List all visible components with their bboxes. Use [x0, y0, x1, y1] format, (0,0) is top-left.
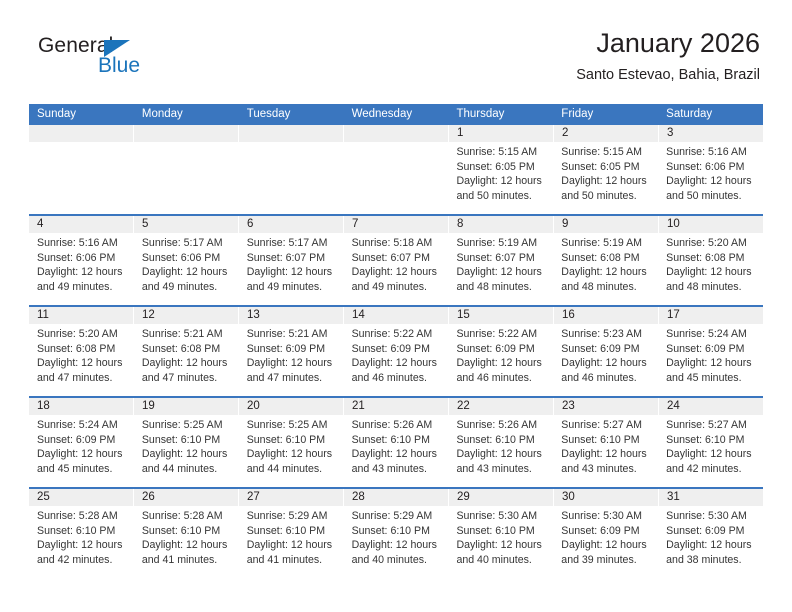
day-cell-empty — [239, 142, 344, 214]
day-cell-17[interactable]: Sunrise: 5:24 AMSunset: 6:09 PMDaylight:… — [658, 324, 763, 396]
day-info-line: and 46 minutes. — [352, 371, 443, 386]
day-info-line: Sunset: 6:09 PM — [666, 342, 757, 357]
day-info-line: Daylight: 12 hours — [37, 356, 128, 371]
day-info-line: Sunset: 6:09 PM — [247, 342, 338, 357]
day-info-line: and 47 minutes. — [247, 371, 338, 386]
day-cell-29[interactable]: Sunrise: 5:30 AMSunset: 6:10 PMDaylight:… — [448, 506, 553, 578]
day-cell-23[interactable]: Sunrise: 5:27 AMSunset: 6:10 PMDaylight:… — [553, 415, 658, 487]
day-cell-30[interactable]: Sunrise: 5:30 AMSunset: 6:09 PMDaylight:… — [553, 506, 658, 578]
day-info-line: and 46 minutes. — [456, 371, 547, 386]
day-info-line: Daylight: 12 hours — [142, 447, 233, 462]
calendar-week-row: 123Sunrise: 5:15 AMSunset: 6:05 PMDaylig… — [29, 125, 763, 214]
day-cell-15[interactable]: Sunrise: 5:22 AMSunset: 6:09 PMDaylight:… — [448, 324, 553, 396]
day-info-line: and 38 minutes. — [666, 553, 757, 568]
day-info-line: Daylight: 12 hours — [666, 174, 757, 189]
day-info-line: Sunset: 6:10 PM — [456, 433, 547, 448]
day-info-line: and 46 minutes. — [561, 371, 652, 386]
day-info-line: Daylight: 12 hours — [247, 538, 338, 553]
day-info-line: Daylight: 12 hours — [352, 265, 443, 280]
day-info-line: and 43 minutes. — [561, 462, 652, 477]
day-cell-empty — [134, 142, 239, 214]
day-info-line: Sunrise: 5:26 AM — [352, 418, 443, 433]
calendar-week-row: 25262728293031Sunrise: 5:28 AMSunset: 6:… — [29, 487, 763, 578]
day-number-empty — [344, 125, 449, 142]
day-detail-row: Sunrise: 5:20 AMSunset: 6:08 PMDaylight:… — [29, 324, 763, 396]
day-info-line: Daylight: 12 hours — [142, 356, 233, 371]
day-info-line: Sunrise: 5:16 AM — [666, 145, 757, 160]
day-number-26[interactable]: 26 — [134, 489, 239, 506]
day-info-line: Sunrise: 5:17 AM — [142, 236, 233, 251]
weekday-header-monday: Monday — [134, 104, 239, 125]
day-info-line: Daylight: 12 hours — [456, 356, 547, 371]
day-number-16[interactable]: 16 — [554, 307, 659, 324]
day-info-line: Sunrise: 5:30 AM — [666, 509, 757, 524]
day-info-line: Sunrise: 5:24 AM — [37, 418, 128, 433]
day-info-line: Sunset: 6:07 PM — [247, 251, 338, 266]
day-number-18[interactable]: 18 — [29, 398, 134, 415]
day-info-line: Daylight: 12 hours — [247, 447, 338, 462]
day-detail-row: Sunrise: 5:16 AMSunset: 6:06 PMDaylight:… — [29, 233, 763, 305]
day-cell-5[interactable]: Sunrise: 5:17 AMSunset: 6:06 PMDaylight:… — [134, 233, 239, 305]
day-info-line: Sunrise: 5:19 AM — [456, 236, 547, 251]
calendar-week-row: 45678910Sunrise: 5:16 AMSunset: 6:06 PMD… — [29, 214, 763, 305]
weekday-header-friday: Friday — [553, 104, 658, 125]
day-info-line: Sunrise: 5:27 AM — [666, 418, 757, 433]
day-info-line: Sunrise: 5:27 AM — [561, 418, 652, 433]
calendar-page: General Blue January 2026 Santo Estevao,… — [0, 0, 792, 612]
day-info-line: Daylight: 12 hours — [561, 447, 652, 462]
day-info-line: Sunrise: 5:30 AM — [456, 509, 547, 524]
day-number-12[interactable]: 12 — [134, 307, 239, 324]
day-info-line: and 41 minutes. — [142, 553, 233, 568]
day-info-line: Daylight: 12 hours — [666, 447, 757, 462]
weekday-header-row: SundayMondayTuesdayWednesdayThursdayFrid… — [29, 104, 763, 125]
day-info-line: and 42 minutes. — [37, 553, 128, 568]
day-info-line: Daylight: 12 hours — [142, 538, 233, 553]
day-info-line: Daylight: 12 hours — [37, 265, 128, 280]
day-info-line: Sunset: 6:10 PM — [456, 524, 547, 539]
day-info-line: Sunrise: 5:17 AM — [247, 236, 338, 251]
calendar-grid: SundayMondayTuesdayWednesdayThursdayFrid… — [29, 104, 763, 578]
title-block: January 2026 Santo Estevao, Bahia, Brazi… — [576, 26, 760, 86]
day-detail-row: Sunrise: 5:24 AMSunset: 6:09 PMDaylight:… — [29, 415, 763, 487]
calendar-week-row: 11121314151617Sunrise: 5:20 AMSunset: 6:… — [29, 305, 763, 396]
day-info-line: Daylight: 12 hours — [456, 447, 547, 462]
day-cell-14[interactable]: Sunrise: 5:22 AMSunset: 6:09 PMDaylight:… — [344, 324, 449, 396]
day-info-line: and 42 minutes. — [666, 462, 757, 477]
day-info-line: Daylight: 12 hours — [352, 447, 443, 462]
day-info-line: and 50 minutes. — [456, 189, 547, 204]
day-info-line: Sunset: 6:05 PM — [456, 160, 547, 175]
day-info-line: and 48 minutes. — [456, 280, 547, 295]
day-info-line: and 48 minutes. — [666, 280, 757, 295]
day-info-line: Sunset: 6:09 PM — [352, 342, 443, 357]
day-info-line: and 44 minutes. — [247, 462, 338, 477]
day-info-line: Sunset: 6:10 PM — [142, 433, 233, 448]
day-number-2[interactable]: 2 — [554, 125, 659, 142]
day-info-line: and 49 minutes. — [352, 280, 443, 295]
day-number-empty — [29, 125, 134, 142]
day-cell-4[interactable]: Sunrise: 5:16 AMSunset: 6:06 PMDaylight:… — [29, 233, 134, 305]
day-info-line: Sunrise: 5:20 AM — [37, 327, 128, 342]
day-detail-row: Sunrise: 5:15 AMSunset: 6:05 PMDaylight:… — [29, 142, 763, 214]
weekday-header-thursday: Thursday — [448, 104, 553, 125]
weekday-header-wednesday: Wednesday — [344, 104, 449, 125]
day-info-line: Sunrise: 5:15 AM — [561, 145, 652, 160]
day-cell-21[interactable]: Sunrise: 5:26 AMSunset: 6:10 PMDaylight:… — [344, 415, 449, 487]
day-number-9[interactable]: 9 — [554, 216, 659, 233]
day-number-15[interactable]: 15 — [449, 307, 554, 324]
day-cell-27[interactable]: Sunrise: 5:29 AMSunset: 6:10 PMDaylight:… — [239, 506, 344, 578]
day-number-5[interactable]: 5 — [134, 216, 239, 233]
page-subtitle: Santo Estevao, Bahia, Brazil — [576, 64, 760, 86]
day-number-23[interactable]: 23 — [554, 398, 659, 415]
day-info-line: Sunrise: 5:19 AM — [561, 236, 652, 251]
day-number-strip: 11121314151617 — [29, 307, 763, 324]
day-info-line: Sunset: 6:10 PM — [352, 433, 443, 448]
day-cell-9[interactable]: Sunrise: 5:19 AMSunset: 6:08 PMDaylight:… — [553, 233, 658, 305]
day-number-10[interactable]: 10 — [659, 216, 763, 233]
day-info-line: and 48 minutes. — [561, 280, 652, 295]
day-info-line: Sunrise: 5:25 AM — [247, 418, 338, 433]
day-number-19[interactable]: 19 — [134, 398, 239, 415]
day-info-line: and 43 minutes. — [456, 462, 547, 477]
day-info-line: and 45 minutes. — [37, 462, 128, 477]
day-info-line: Daylight: 12 hours — [352, 538, 443, 553]
day-number-30[interactable]: 30 — [554, 489, 659, 506]
day-info-line: and 49 minutes. — [37, 280, 128, 295]
day-number-strip: 25262728293031 — [29, 489, 763, 506]
day-info-line: Sunrise: 5:25 AM — [142, 418, 233, 433]
day-cell-22[interactable]: Sunrise: 5:26 AMSunset: 6:10 PMDaylight:… — [448, 415, 553, 487]
day-info-line: Sunset: 6:09 PM — [666, 524, 757, 539]
day-cell-6[interactable]: Sunrise: 5:17 AMSunset: 6:07 PMDaylight:… — [239, 233, 344, 305]
day-info-line: Sunset: 6:10 PM — [352, 524, 443, 539]
day-info-line: Sunset: 6:07 PM — [352, 251, 443, 266]
day-info-line: and 44 minutes. — [142, 462, 233, 477]
day-cell-empty — [344, 142, 449, 214]
day-number-21[interactable]: 21 — [344, 398, 449, 415]
calendar-weeks: 123Sunrise: 5:15 AMSunset: 6:05 PMDaylig… — [29, 125, 763, 578]
calendar-week-row: 18192021222324Sunrise: 5:24 AMSunset: 6:… — [29, 396, 763, 487]
day-info-line: Sunset: 6:09 PM — [37, 433, 128, 448]
day-info-line: Sunset: 6:09 PM — [561, 524, 652, 539]
day-info-line: and 40 minutes. — [456, 553, 547, 568]
day-info-line: Sunrise: 5:18 AM — [352, 236, 443, 251]
logo-text-blue: Blue — [98, 54, 140, 78]
day-info-line: Sunset: 6:10 PM — [247, 433, 338, 448]
day-info-line: Sunset: 6:06 PM — [142, 251, 233, 266]
day-info-line: Sunset: 6:09 PM — [456, 342, 547, 357]
day-info-line: Sunset: 6:10 PM — [37, 524, 128, 539]
day-info-line: Sunset: 6:10 PM — [666, 433, 757, 448]
day-info-line: Sunrise: 5:24 AM — [666, 327, 757, 342]
day-number-empty — [239, 125, 344, 142]
day-number-27[interactable]: 27 — [239, 489, 344, 506]
day-cell-28[interactable]: Sunrise: 5:29 AMSunset: 6:10 PMDaylight:… — [344, 506, 449, 578]
day-info-line: Sunrise: 5:28 AM — [37, 509, 128, 524]
day-info-line: Sunrise: 5:28 AM — [142, 509, 233, 524]
day-info-line: and 40 minutes. — [352, 553, 443, 568]
day-info-line: Daylight: 12 hours — [561, 174, 652, 189]
day-info-line: Daylight: 12 hours — [247, 265, 338, 280]
day-info-line: Sunset: 6:10 PM — [247, 524, 338, 539]
day-info-line: Sunset: 6:10 PM — [142, 524, 233, 539]
day-info-line: Daylight: 12 hours — [247, 356, 338, 371]
day-number-20[interactable]: 20 — [239, 398, 344, 415]
day-detail-row: Sunrise: 5:28 AMSunset: 6:10 PMDaylight:… — [29, 506, 763, 578]
day-cell-1[interactable]: Sunrise: 5:15 AMSunset: 6:05 PMDaylight:… — [448, 142, 553, 214]
day-number-1[interactable]: 1 — [449, 125, 554, 142]
day-info-line: Daylight: 12 hours — [561, 265, 652, 280]
day-cell-12[interactable]: Sunrise: 5:21 AMSunset: 6:08 PMDaylight:… — [134, 324, 239, 396]
general-blue-logo[interactable]: General Blue — [38, 34, 198, 90]
day-info-line: Sunset: 6:07 PM — [456, 251, 547, 266]
day-number-11[interactable]: 11 — [29, 307, 134, 324]
day-info-line: and 45 minutes. — [666, 371, 757, 386]
day-number-4[interactable]: 4 — [29, 216, 134, 233]
day-info-line: Daylight: 12 hours — [37, 447, 128, 462]
day-number-strip: 123 — [29, 125, 763, 142]
day-info-line: Sunset: 6:06 PM — [37, 251, 128, 266]
day-info-line: Daylight: 12 hours — [456, 538, 547, 553]
day-info-line: and 50 minutes. — [666, 189, 757, 204]
day-info-line: and 47 minutes. — [142, 371, 233, 386]
day-info-line: Sunset: 6:08 PM — [561, 251, 652, 266]
day-info-line: and 49 minutes. — [247, 280, 338, 295]
day-number-24[interactable]: 24 — [659, 398, 763, 415]
day-info-line: Sunrise: 5:22 AM — [352, 327, 443, 342]
day-info-line: Sunrise: 5:21 AM — [247, 327, 338, 342]
day-cell-19[interactable]: Sunrise: 5:25 AMSunset: 6:10 PMDaylight:… — [134, 415, 239, 487]
day-number-7[interactable]: 7 — [344, 216, 449, 233]
day-cell-16[interactable]: Sunrise: 5:23 AMSunset: 6:09 PMDaylight:… — [553, 324, 658, 396]
day-number-6[interactable]: 6 — [239, 216, 344, 233]
day-cell-8[interactable]: Sunrise: 5:19 AMSunset: 6:07 PMDaylight:… — [448, 233, 553, 305]
day-info-line: Sunrise: 5:23 AM — [561, 327, 652, 342]
day-info-line: Sunrise: 5:20 AM — [666, 236, 757, 251]
day-info-line: Sunrise: 5:29 AM — [247, 509, 338, 524]
weekday-header-tuesday: Tuesday — [239, 104, 344, 125]
day-info-line: Sunrise: 5:16 AM — [37, 236, 128, 251]
day-cell-3[interactable]: Sunrise: 5:16 AMSunset: 6:06 PMDaylight:… — [658, 142, 763, 214]
day-info-line: Daylight: 12 hours — [561, 356, 652, 371]
day-number-3[interactable]: 3 — [659, 125, 763, 142]
day-info-line: Daylight: 12 hours — [561, 538, 652, 553]
day-info-line: Sunset: 6:08 PM — [142, 342, 233, 357]
day-info-line: Sunset: 6:08 PM — [666, 251, 757, 266]
day-number-empty — [134, 125, 239, 142]
day-number-22[interactable]: 22 — [449, 398, 554, 415]
day-info-line: Sunset: 6:10 PM — [561, 433, 652, 448]
day-info-line: Daylight: 12 hours — [666, 538, 757, 553]
day-number-31[interactable]: 31 — [659, 489, 763, 506]
day-cell-13[interactable]: Sunrise: 5:21 AMSunset: 6:09 PMDaylight:… — [239, 324, 344, 396]
day-number-25[interactable]: 25 — [29, 489, 134, 506]
day-cell-11[interactable]: Sunrise: 5:20 AMSunset: 6:08 PMDaylight:… — [29, 324, 134, 396]
day-cell-empty — [29, 142, 134, 214]
day-info-line: Sunset: 6:09 PM — [561, 342, 652, 357]
day-cell-10[interactable]: Sunrise: 5:20 AMSunset: 6:08 PMDaylight:… — [658, 233, 763, 305]
day-number-14[interactable]: 14 — [344, 307, 449, 324]
day-info-line: and 39 minutes. — [561, 553, 652, 568]
day-cell-31[interactable]: Sunrise: 5:30 AMSunset: 6:09 PMDaylight:… — [658, 506, 763, 578]
page-header: General Blue January 2026 Santo Estevao,… — [29, 26, 763, 98]
day-info-line: Daylight: 12 hours — [142, 265, 233, 280]
day-number-8[interactable]: 8 — [449, 216, 554, 233]
day-info-line: Sunrise: 5:22 AM — [456, 327, 547, 342]
day-cell-26[interactable]: Sunrise: 5:28 AMSunset: 6:10 PMDaylight:… — [134, 506, 239, 578]
day-info-line: Daylight: 12 hours — [352, 356, 443, 371]
day-info-line: Daylight: 12 hours — [456, 174, 547, 189]
day-number-29[interactable]: 29 — [449, 489, 554, 506]
day-info-line: Sunrise: 5:21 AM — [142, 327, 233, 342]
day-info-line: and 49 minutes. — [142, 280, 233, 295]
day-info-line: Daylight: 12 hours — [666, 265, 757, 280]
day-cell-20[interactable]: Sunrise: 5:25 AMSunset: 6:10 PMDaylight:… — [239, 415, 344, 487]
page-title: January 2026 — [576, 26, 760, 60]
day-info-line: Sunset: 6:08 PM — [37, 342, 128, 357]
day-info-line: and 47 minutes. — [37, 371, 128, 386]
day-info-line: Sunrise: 5:30 AM — [561, 509, 652, 524]
day-info-line: and 41 minutes. — [247, 553, 338, 568]
day-info-line: Sunset: 6:05 PM — [561, 160, 652, 175]
day-info-line: Sunrise: 5:15 AM — [456, 145, 547, 160]
day-number-17[interactable]: 17 — [659, 307, 763, 324]
day-info-line: Sunset: 6:06 PM — [666, 160, 757, 175]
day-cell-18[interactable]: Sunrise: 5:24 AMSunset: 6:09 PMDaylight:… — [29, 415, 134, 487]
weekday-header-sunday: Sunday — [29, 104, 134, 125]
day-info-line: Sunrise: 5:26 AM — [456, 418, 547, 433]
weekday-header-saturday: Saturday — [658, 104, 763, 125]
day-cell-24[interactable]: Sunrise: 5:27 AMSunset: 6:10 PMDaylight:… — [658, 415, 763, 487]
day-info-line: and 50 minutes. — [561, 189, 652, 204]
day-info-line: Daylight: 12 hours — [666, 356, 757, 371]
day-number-13[interactable]: 13 — [239, 307, 344, 324]
day-cell-25[interactable]: Sunrise: 5:28 AMSunset: 6:10 PMDaylight:… — [29, 506, 134, 578]
day-info-line: and 43 minutes. — [352, 462, 443, 477]
day-info-line: Sunrise: 5:29 AM — [352, 509, 443, 524]
day-number-28[interactable]: 28 — [344, 489, 449, 506]
day-info-line: Daylight: 12 hours — [37, 538, 128, 553]
day-info-line: Daylight: 12 hours — [456, 265, 547, 280]
day-cell-7[interactable]: Sunrise: 5:18 AMSunset: 6:07 PMDaylight:… — [344, 233, 449, 305]
day-cell-2[interactable]: Sunrise: 5:15 AMSunset: 6:05 PMDaylight:… — [553, 142, 658, 214]
day-number-strip: 18192021222324 — [29, 398, 763, 415]
day-number-strip: 45678910 — [29, 216, 763, 233]
